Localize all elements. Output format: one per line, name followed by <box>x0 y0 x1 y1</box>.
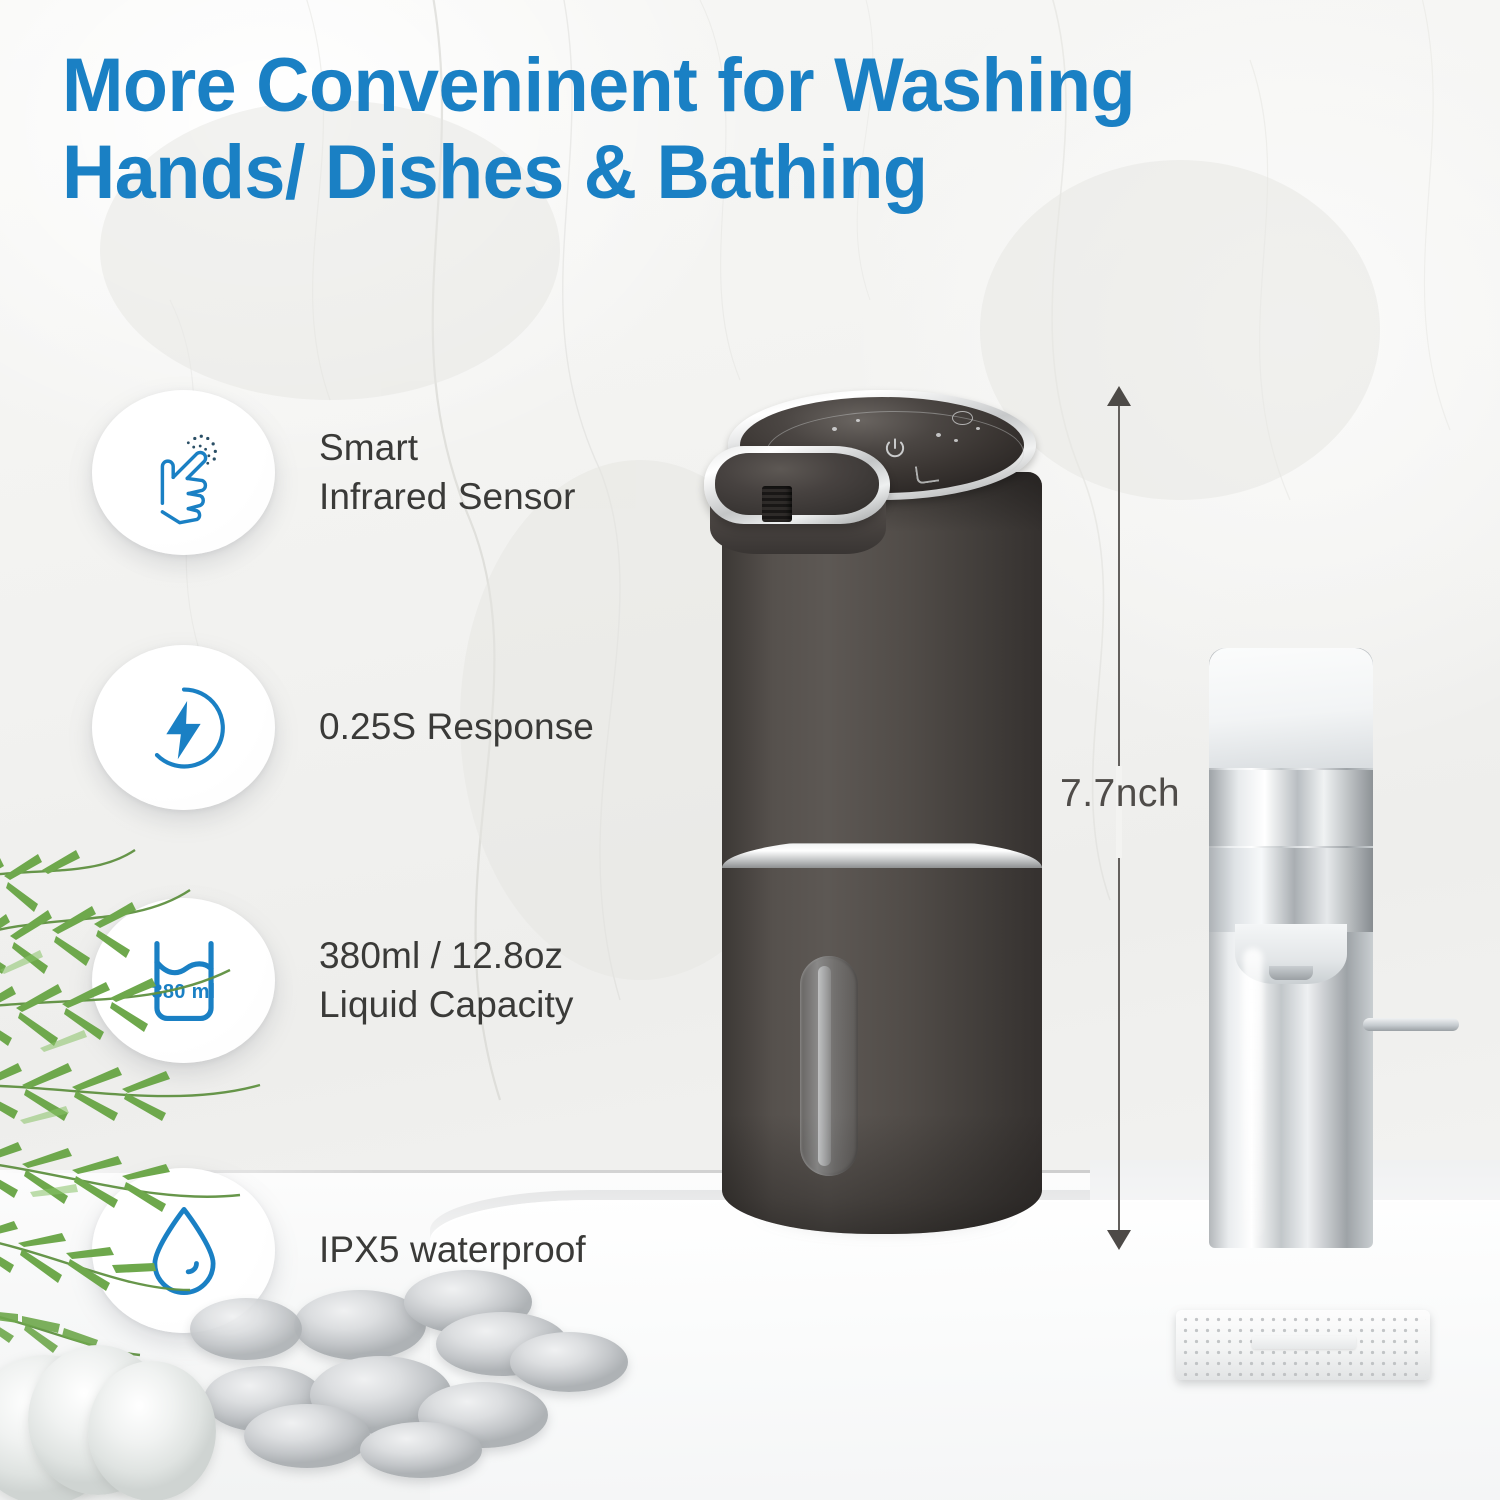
feature-label: 380ml / 12.8oz Liquid Capacity <box>319 932 573 1028</box>
product-infographic: More Conveninent for Washing Hands/ Dish… <box>0 0 1500 1500</box>
soap-dispenser <box>722 386 1042 1234</box>
led-indicator <box>936 433 941 437</box>
lightning-bolt-icon <box>132 676 236 780</box>
feature-smart-infrared-sensor: Smart Infrared Sensor <box>92 390 576 555</box>
pebble <box>244 1404 370 1468</box>
chrome-faucet <box>1203 648 1379 1248</box>
infrared-hand-icon <box>130 419 238 527</box>
dimension-label: 7.7nch <box>1060 772 1180 816</box>
height-dimension-arrow <box>1118 386 1120 1250</box>
arrow-down-icon <box>1107 1230 1131 1250</box>
feature-label: IPX5 waterproof <box>319 1226 586 1274</box>
decorative-pebbles <box>190 1270 660 1480</box>
hand-sensor-icon <box>915 464 939 485</box>
feature-icon-badge <box>92 390 275 555</box>
faucet-upper-ring <box>1209 770 1373 846</box>
dispenser-spout-arm <box>704 446 890 554</box>
led-indicator <box>976 427 980 430</box>
indicator-ring-icon <box>952 411 973 425</box>
chrome-band <box>722 838 1042 868</box>
led-indicator <box>856 419 860 422</box>
drain-slot <box>1252 1336 1356 1349</box>
faucet-aerator <box>1269 966 1313 980</box>
feature-icon-badge <box>92 645 275 810</box>
headline-line-2: Hands/ Dishes & Bathing <box>62 129 1381 216</box>
faucet-mid-ring <box>1209 848 1373 932</box>
liquid-level-indicator <box>818 966 831 1166</box>
towel-roll <box>88 1361 216 1500</box>
dispenser-nozzle-icon <box>762 486 792 522</box>
feature-label: 0.25S Response <box>319 703 594 751</box>
dispenser-body-base-shading <box>722 1114 1042 1234</box>
page-title: More Conveninent for Washing Hands/ Dish… <box>62 42 1381 217</box>
spout-arm-face <box>715 453 879 515</box>
feature-label: Smart Infrared Sensor <box>319 424 576 520</box>
headline-line-1: More Conveninent for Washing <box>62 42 1381 129</box>
pebble <box>510 1332 628 1392</box>
liquid-level-window <box>800 956 858 1176</box>
faucet-cap <box>1209 648 1373 768</box>
faucet-lever-handle[interactable] <box>1363 1018 1459 1031</box>
perforated-drain-cover <box>1176 1310 1430 1380</box>
pebble <box>360 1422 482 1478</box>
led-indicator <box>832 427 837 431</box>
faucet-highlight <box>1243 948 1263 1238</box>
arrow-up-icon <box>1107 386 1131 406</box>
feature-response-time: 0.25S Response <box>92 645 594 810</box>
led-indicator <box>954 439 958 442</box>
rolled-towel <box>0 1345 230 1500</box>
